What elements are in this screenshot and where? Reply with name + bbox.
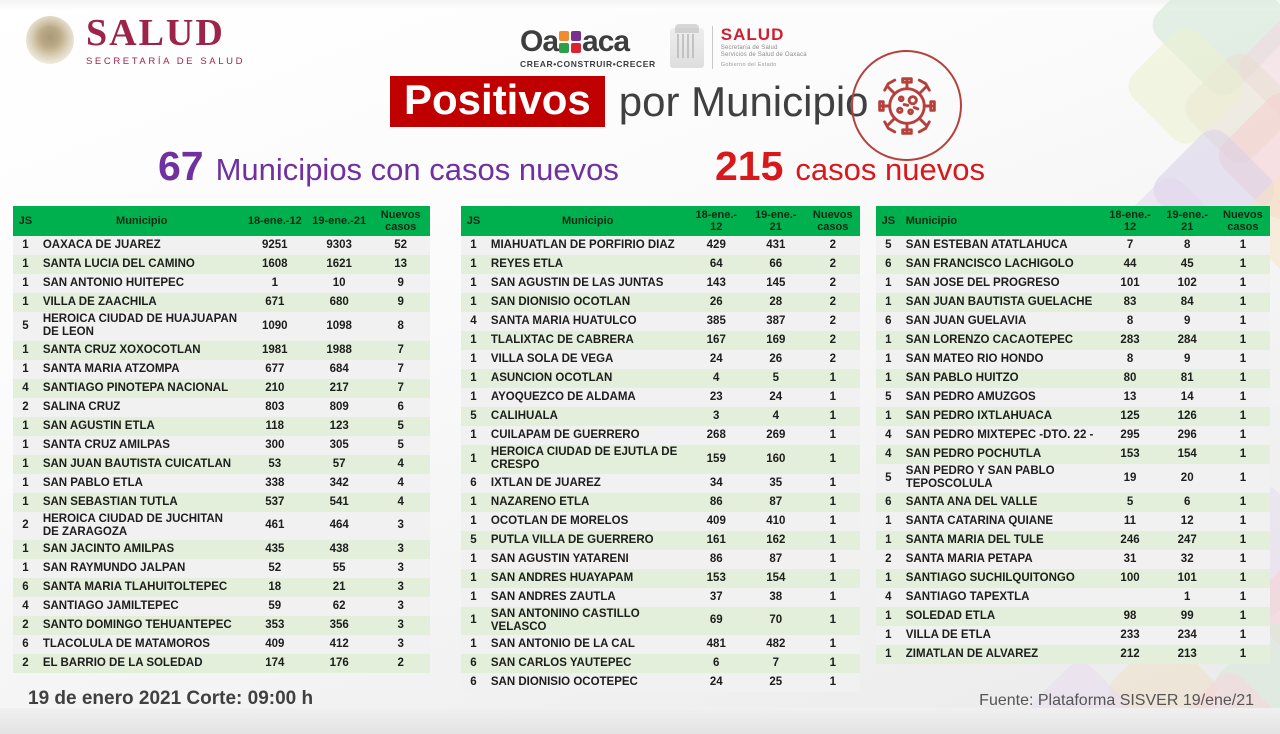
- cell-nuevos-casos: 1: [806, 369, 860, 388]
- cell-nuevos-casos: 1: [806, 512, 860, 531]
- cell-date2-value: 410: [746, 512, 806, 531]
- cell-municipio: TLALIXTAC DE CABRERA: [486, 331, 687, 350]
- table-row: 1SANTA CRUZ AMILPAS3003055: [13, 436, 430, 455]
- table-row: 1SAN PEDRO IXTLAHUACA1251261: [876, 407, 1270, 426]
- cell-date2-value: 66: [746, 255, 806, 274]
- municipios-table-1: JS Municipio 18-ene.-12 19-ene.-21 Nuevo…: [13, 206, 430, 673]
- decor-diamond-0: [1145, 0, 1280, 103]
- cell-js: 1: [13, 436, 38, 455]
- salud-subtitle: SECRETARÍA DE SALUD: [86, 57, 245, 67]
- cell-date2-value: 123: [307, 417, 371, 436]
- cell-nuevos-casos: 3: [371, 540, 430, 559]
- cell-date2-value: 25: [746, 673, 806, 692]
- table-row: 1ZIMATLAN DE ALVAREZ2122131: [876, 645, 1270, 664]
- cell-nuevos-casos: 3: [371, 597, 430, 616]
- cell-date2-value: 217: [307, 379, 371, 398]
- cell-municipio: SAN ESTEBAN ATATLAHUCA: [901, 236, 1102, 255]
- cell-date1-value: 19: [1101, 464, 1158, 492]
- cell-municipio: SANTA MARIA TLAHUITOLTEPEC: [38, 578, 243, 597]
- oaxaca-tagline: CREAR•CONSTRUIR•CRECER: [520, 60, 656, 69]
- cell-date2-value: 10: [307, 274, 371, 293]
- cell-date2-value: 87: [746, 550, 806, 569]
- table-row: 6TLACOLULA DE MATAMOROS4094123: [13, 635, 430, 654]
- table-row: 1SAN JUAN BAUTISTA CUICATLAN53574: [13, 455, 430, 474]
- cell-municipio: SAN ANDRES HUAYAPAM: [486, 569, 687, 588]
- cell-nuevos-casos: 4: [371, 474, 430, 493]
- cell-date1-value: 461: [243, 512, 307, 540]
- cell-js: 4: [876, 445, 901, 464]
- cell-municipio: SANTA LUCIA DEL CAMINO: [38, 255, 243, 274]
- cell-date1-value: 295: [1101, 426, 1158, 445]
- decor-diamond-3: [1121, 21, 1251, 151]
- cell-js: 5: [876, 388, 901, 407]
- table-row: 1SAN AGUSTIN ETLA1181235: [13, 417, 430, 436]
- cell-date1-value: 1608: [243, 255, 307, 274]
- cell-js: 1: [876, 512, 901, 531]
- cell-date2-value: 12: [1159, 512, 1216, 531]
- col-nuevos-casos: Nuevos casos: [371, 206, 430, 236]
- cell-nuevos-casos: 1: [1216, 512, 1270, 531]
- cell-date1-value: 37: [686, 588, 746, 607]
- table-row: 1SAN ANDRES HUAYAPAM1531541: [461, 569, 860, 588]
- table-row: 1SAN PABLO HUITZO80811: [876, 369, 1270, 388]
- cell-municipio: SAN JACINTO AMILPAS: [38, 540, 243, 559]
- cell-date1-value: 26: [686, 293, 746, 312]
- cell-municipio: VILLA SOLA DE VEGA: [486, 350, 687, 369]
- col-date1: 18-ene.- 12: [686, 206, 746, 236]
- table-row: 6SAN DIONISIO OCOTEPEC24251: [461, 673, 860, 692]
- cell-date2-value: 84: [1159, 293, 1216, 312]
- cell-date2-value: 213: [1159, 645, 1216, 664]
- cell-date1-value: 153: [1101, 445, 1158, 464]
- cell-date2-value: 126: [1159, 407, 1216, 426]
- cell-js: 1: [876, 350, 901, 369]
- cell-municipio: SAN AGUSTIN ETLA: [38, 417, 243, 436]
- table-row: 1SAN JUAN BAUTISTA GUELACHE83841: [876, 293, 1270, 312]
- col-js: JS: [876, 206, 901, 236]
- cell-municipio: NAZARENO ETLA: [486, 493, 687, 512]
- cell-nuevos-casos: 13: [371, 255, 430, 274]
- col-nuevos-line1: Nuevos: [373, 209, 428, 221]
- cell-date1-value: 174: [243, 654, 307, 673]
- cell-date1-value: 83: [1101, 293, 1158, 312]
- cell-municipio: SANTA MARIA PETAPA: [901, 550, 1102, 569]
- cell-municipio: SANTIAGO SUCHILQUITONGO: [901, 569, 1102, 588]
- cell-date2-value: 70: [746, 607, 806, 635]
- cell-date1-value: 59: [243, 597, 307, 616]
- col-nuevos-line1: Nuevos: [808, 209, 858, 221]
- gob-salud-line1: Secretaría de Salud: [721, 45, 807, 51]
- cell-js: 1: [876, 607, 901, 626]
- cell-nuevos-casos: 3: [371, 559, 430, 578]
- cell-date2-value: 412: [307, 635, 371, 654]
- cell-js: 1: [876, 569, 901, 588]
- table-row: 1HEROICA CIUDAD DE EJUTLA DE CRESPO15916…: [461, 445, 860, 473]
- col-date2: 19-ene.- 21: [746, 206, 806, 236]
- cell-municipio: SAN RAYMUNDO JALPAN: [38, 559, 243, 578]
- cell-date2-value: 28: [746, 293, 806, 312]
- cell-date2-value: 81: [1159, 369, 1216, 388]
- cell-nuevos-casos: 1: [1216, 274, 1270, 293]
- oaxaca-government-logos: Oa aca CREAR•CONSTRUIR•CRECER SALUD Secr…: [520, 26, 807, 69]
- cell-nuevos-casos: 3: [371, 512, 430, 540]
- cell-date2-value: 305: [307, 436, 371, 455]
- oaxaca-logo: Oa aca CREAR•CONSTRUIR•CRECER: [520, 27, 656, 69]
- cell-js: 1: [461, 588, 486, 607]
- cell-date2-value: 4: [746, 407, 806, 426]
- stat-casos-number: 215: [715, 146, 783, 187]
- col-nuevos-casos: Nuevos casos: [1216, 206, 1270, 236]
- cell-date2-value: 1098: [307, 312, 371, 340]
- table-row: 1SAN ANTONIO DE LA CAL4814821: [461, 635, 860, 654]
- cell-date2-value: 356: [307, 616, 371, 635]
- cell-municipio: SANTIAGO TAPEXTLA: [901, 588, 1102, 607]
- cell-nuevos-casos: 1: [1216, 550, 1270, 569]
- cell-municipio: IXTLAN DE JUAREZ: [486, 474, 687, 493]
- footer-source: Fuente: Plataforma SISVER 19/ene/21: [979, 692, 1254, 710]
- cell-date2-value: 24: [746, 388, 806, 407]
- cell-nuevos-casos: 2: [806, 236, 860, 255]
- cell-date2-value: 269: [746, 426, 806, 445]
- table-row: 1SAN SEBASTIAN TUTLA5375414: [13, 493, 430, 512]
- cell-municipio: SAN PEDRO MIXTEPEC -DTO. 22 -: [901, 426, 1102, 445]
- table-row: 6SANTA ANA DEL VALLE561: [876, 493, 1270, 512]
- cell-date1-value: 677: [243, 360, 307, 379]
- cell-municipio: SAN DIONISIO OCOTEPEC: [486, 673, 687, 692]
- cell-js: 1: [13, 255, 38, 274]
- cell-date1-value: 5: [1101, 493, 1158, 512]
- cell-date1-value: 7: [1101, 236, 1158, 255]
- cell-date2-value: 57: [307, 455, 371, 474]
- cell-date2-value: 62: [307, 597, 371, 616]
- cell-nuevos-casos: 2: [806, 274, 860, 293]
- cell-js: 5: [876, 236, 901, 255]
- cell-municipio: AYOQUEZCO DE ALDAMA: [486, 388, 687, 407]
- cell-date1-value: 52: [243, 559, 307, 578]
- cell-date2-value: 99: [1159, 607, 1216, 626]
- cell-date2-value: 32: [1159, 550, 1216, 569]
- cell-municipio: SAN DIONISIO OCOTLAN: [486, 293, 687, 312]
- cell-municipio: SAN JOSE DEL PROGRESO: [901, 274, 1102, 293]
- cell-nuevos-casos: 1: [1216, 312, 1270, 331]
- cell-date2-value: 21: [307, 578, 371, 597]
- cell-municipio: SANTA MARIA DEL TULE: [901, 531, 1102, 550]
- cell-municipio: SAN PABLO HUITZO: [901, 369, 1102, 388]
- cell-date1-value: 161: [686, 531, 746, 550]
- cell-js: 1: [461, 635, 486, 654]
- cell-date2-value: 541: [307, 493, 371, 512]
- col-date1: 18-ene.- 12: [1101, 206, 1158, 236]
- col-date1: 18-ene.-12: [243, 206, 307, 236]
- cell-municipio: SANTA MARIA HUATULCO: [486, 312, 687, 331]
- cell-municipio: SAN PEDRO AMUZGOS: [901, 388, 1102, 407]
- municipios-table-2: JS Municipio 18-ene.- 12 19-ene.- 21 Nue…: [461, 206, 860, 692]
- cell-js: 2: [876, 550, 901, 569]
- cell-date2-value: 431: [746, 236, 806, 255]
- col-nuevos-casos: Nuevos casos: [806, 206, 860, 236]
- cell-js: 2: [13, 512, 38, 540]
- cell-date1-value: 8: [1101, 350, 1158, 369]
- cell-js: 1: [461, 512, 486, 531]
- table-row: 1NAZARENO ETLA86871: [461, 493, 860, 512]
- table-row: 4SANTIAGO JAMILTEPEC59623: [13, 597, 430, 616]
- cell-js: 5: [461, 531, 486, 550]
- cell-municipio: SAN ANDRES ZAUTLA: [486, 588, 687, 607]
- table-row: 2SANTA MARIA PETAPA31321: [876, 550, 1270, 569]
- cell-js: 2: [13, 616, 38, 635]
- cell-date2-value: 154: [1159, 445, 1216, 464]
- table-row: 1SAN DIONISIO OCOTLAN26282: [461, 293, 860, 312]
- cell-js: 4: [876, 588, 901, 607]
- cell-js: 1: [13, 236, 38, 255]
- cell-date1-value: 803: [243, 398, 307, 417]
- cell-nuevos-casos: 3: [371, 578, 430, 597]
- cell-nuevos-casos: 2: [371, 654, 430, 673]
- cell-nuevos-casos: 7: [371, 379, 430, 398]
- table-row: 1SAN LORENZO CACAOTEPEC2832841: [876, 331, 1270, 350]
- cell-nuevos-casos: 1: [806, 550, 860, 569]
- table-row: 2SALINA CRUZ8038096: [13, 398, 430, 417]
- cell-date2-value: 247: [1159, 531, 1216, 550]
- cell-municipio: OAXACA DE JUAREZ: [38, 236, 243, 255]
- cell-municipio: ASUNCION OCOTLAN: [486, 369, 687, 388]
- cell-js: 1: [13, 274, 38, 293]
- cell-js: 6: [876, 493, 901, 512]
- table-body: 1MIAHUATLAN DE PORFIRIO DIAZ42943121REYE…: [461, 236, 860, 692]
- footer-date: 19 de enero 2021 Corte: 09:00 h: [28, 688, 313, 710]
- cell-date1-value: 167: [686, 331, 746, 350]
- cell-nuevos-casos: 5: [371, 436, 430, 455]
- cell-nuevos-casos: 52: [371, 236, 430, 255]
- cell-date1-value: 24: [686, 350, 746, 369]
- table-row: 1MIAHUATLAN DE PORFIRIO DIAZ4294312: [461, 236, 860, 255]
- cell-nuevos-casos: 1: [1216, 645, 1270, 664]
- table-row: 1SANTA LUCIA DEL CAMINO1608162113: [13, 255, 430, 274]
- cell-js: 6: [461, 474, 486, 493]
- cell-nuevos-casos: 1: [1216, 426, 1270, 445]
- cell-js: 1: [13, 559, 38, 578]
- table-row: 6IXTLAN DE JUAREZ34351: [461, 474, 860, 493]
- coronavirus-icon: [851, 50, 962, 161]
- cell-js: 2: [13, 398, 38, 417]
- cell-js: 1: [461, 493, 486, 512]
- cell-municipio: ZIMATLAN DE ALVAREZ: [901, 645, 1102, 664]
- cell-nuevos-casos: 2: [806, 350, 860, 369]
- cell-date1-value: 9251: [243, 236, 307, 255]
- cell-date2-value: 464: [307, 512, 371, 540]
- cell-date1-value: 3: [686, 407, 746, 426]
- col-municipio: Municipio: [38, 206, 243, 236]
- cell-date2-value: 6: [1159, 493, 1216, 512]
- table-row: 1SAN JACINTO AMILPAS4354383: [13, 540, 430, 559]
- cell-date2-value: 809: [307, 398, 371, 417]
- cell-date2-value: 154: [746, 569, 806, 588]
- table-body: 1OAXACA DE JUAREZ92519303521SANTA LUCIA …: [13, 236, 430, 673]
- cell-date2-value: 9303: [307, 236, 371, 255]
- cell-nuevos-casos: 1: [1216, 293, 1270, 312]
- cell-municipio: SAN SEBASTIAN TUTLA: [38, 493, 243, 512]
- table-row: 1SAN ANTONIO HUITEPEC1109: [13, 274, 430, 293]
- table-row: 6SAN FRANCISCO LACHIGOLO44451: [876, 255, 1270, 274]
- table-row: 1SAN RAYMUNDO JALPAN52553: [13, 559, 430, 578]
- cell-date2-value: 284: [1159, 331, 1216, 350]
- cell-municipio: HEROICA CIUDAD DE JUCHITAN DE ZARAGOZA: [38, 512, 243, 540]
- cell-municipio: SAN JUAN BAUTISTA GUELACHE: [901, 293, 1102, 312]
- table-row: 5HEROICA CIUDAD DE HUAJUAPAN DE LEON1090…: [13, 312, 430, 340]
- cell-date2-value: 45: [1159, 255, 1216, 274]
- cell-municipio: SAN ANTONIO DE LA CAL: [486, 635, 687, 654]
- mexico-eagle-icon: [26, 16, 74, 64]
- cell-municipio: CUILAPAM DE GUERRERO: [486, 426, 687, 445]
- cell-js: 1: [461, 445, 486, 473]
- cell-js: 1: [461, 293, 486, 312]
- table-row: 5PUTLA VILLA DE GUERRERO1611621: [461, 531, 860, 550]
- cell-date1-value: 125: [1101, 407, 1158, 426]
- cell-js: 1: [876, 293, 901, 312]
- oaxaca-x-icon: [559, 31, 581, 53]
- cell-municipio: OCOTLAN DE MORELOS: [486, 512, 687, 531]
- cell-nuevos-casos: 1: [1216, 388, 1270, 407]
- cell-js: 1: [461, 550, 486, 569]
- table-row: 1SAN ANTONINO CASTILLO VELASCO69701: [461, 607, 860, 635]
- gob-salud-wordmark: SALUD: [721, 26, 807, 44]
- cell-date2-value: 101: [1159, 569, 1216, 588]
- cell-date1-value: 101: [1101, 274, 1158, 293]
- col-date1-line1: 18-ene.-: [1103, 209, 1156, 221]
- cell-date1-value: 1090: [243, 312, 307, 340]
- cell-nuevos-casos: 1: [806, 388, 860, 407]
- cell-js: 1: [461, 569, 486, 588]
- cell-nuevos-casos: 1: [806, 531, 860, 550]
- cell-date2-value: 26: [746, 350, 806, 369]
- table-row: 1SAN MATEO RIO HONDO891: [876, 350, 1270, 369]
- slide-canvas: SALUD SECRETARÍA DE SALUD Oa aca CREAR•C…: [0, 0, 1280, 734]
- cell-js: 6: [13, 578, 38, 597]
- cell-nuevos-casos: 8: [371, 312, 430, 340]
- cell-municipio: SAN PEDRO Y SAN PABLO TEPOSCOLULA: [901, 464, 1102, 492]
- cell-nuevos-casos: 2: [806, 293, 860, 312]
- cell-date1-value: 338: [243, 474, 307, 493]
- cell-date2-value: 102: [1159, 274, 1216, 293]
- table-row: 2HEROICA CIUDAD DE JUCHITAN DE ZARAGOZA4…: [13, 512, 430, 540]
- table-row: 6SAN JUAN GUELAVIA891: [876, 312, 1270, 331]
- cell-date1-value: 8: [1101, 312, 1158, 331]
- col-municipio: Municipio: [486, 206, 687, 236]
- cell-date1-value: 53: [243, 455, 307, 474]
- cell-date2-value: 1988: [307, 341, 371, 360]
- gob-salud-line2: Servicios de Salud de Oaxaca: [721, 52, 807, 58]
- cell-date1-value: 481: [686, 635, 746, 654]
- cell-date2-value: 1621: [307, 255, 371, 274]
- cell-nuevos-casos: 1: [1216, 493, 1270, 512]
- table-row: 1VILLA DE ZAACHILA6716809: [13, 293, 430, 312]
- cell-js: 5: [13, 312, 38, 340]
- cell-date1-value: 300: [243, 436, 307, 455]
- cell-municipio: SAN MATEO RIO HONDO: [901, 350, 1102, 369]
- oaxaca-crest-icon: [670, 28, 704, 68]
- cell-date1-value: 233: [1101, 626, 1158, 645]
- cell-municipio: SAN ANTONIO HUITEPEC: [38, 274, 243, 293]
- cell-nuevos-casos: 3: [371, 616, 430, 635]
- cell-date2-value: 20: [1159, 464, 1216, 492]
- cell-municipio: SALINA CRUZ: [38, 398, 243, 417]
- cell-municipio: CALIHUALA: [486, 407, 687, 426]
- cell-date1-value: 98: [1101, 607, 1158, 626]
- cell-date1-value: 537: [243, 493, 307, 512]
- cell-municipio: TLACOLULA DE MATAMOROS: [38, 635, 243, 654]
- cell-date2-value: 87: [746, 493, 806, 512]
- cell-date1-value: 34: [686, 474, 746, 493]
- cell-date1-value: 86: [686, 550, 746, 569]
- stat-municipios: 67 Municipios con casos nuevos: [158, 146, 619, 187]
- decor-diamond-1: [1232, 0, 1280, 136]
- cell-municipio: SANTA CATARINA QUIANE: [901, 512, 1102, 531]
- cell-municipio: MIAHUATLAN DE PORFIRIO DIAZ: [486, 236, 687, 255]
- cell-municipio: SOLEDAD ETLA: [901, 607, 1102, 626]
- cell-nuevos-casos: 1: [806, 635, 860, 654]
- cell-js: 2: [13, 654, 38, 673]
- municipios-table-3: JS Municipio 18-ene.- 12 19-ene.- 21 Nue…: [876, 206, 1270, 664]
- cell-js: 1: [13, 341, 38, 360]
- cell-date1-value: 353: [243, 616, 307, 635]
- cell-nuevos-casos: 1: [1216, 369, 1270, 388]
- cell-date1-value: 69: [686, 607, 746, 635]
- cell-nuevos-casos: 1: [806, 493, 860, 512]
- cell-date1-value: 118: [243, 417, 307, 436]
- cell-nuevos-casos: 1: [1216, 350, 1270, 369]
- cell-date2-value: 7: [746, 654, 806, 673]
- cell-nuevos-casos: 7: [371, 360, 430, 379]
- col-date2: 19-ene.- 21: [1159, 206, 1216, 236]
- cell-municipio: SAN LORENZO CACAOTEPEC: [901, 331, 1102, 350]
- cell-date1-value: 268: [686, 426, 746, 445]
- cell-nuevos-casos: 2: [806, 312, 860, 331]
- col-js: JS: [13, 206, 38, 236]
- cell-municipio: EL BARRIO DE LA SOLEDAD: [38, 654, 243, 673]
- cell-date1-value: 1981: [243, 341, 307, 360]
- cell-nuevos-casos: 1: [1216, 588, 1270, 607]
- cell-date1-value: [1101, 588, 1158, 607]
- stat-municipios-label: Municipios con casos nuevos: [216, 154, 619, 185]
- table-row: 1SAN ANDRES ZAUTLA37381: [461, 588, 860, 607]
- cell-nuevos-casos: 1: [806, 673, 860, 692]
- cell-date1-value: 429: [686, 236, 746, 255]
- col-nuevos-line2: casos: [373, 221, 428, 233]
- cell-js: 6: [876, 255, 901, 274]
- cell-nuevos-casos: 1: [806, 654, 860, 673]
- cell-municipio: HEROICA CIUDAD DE EJUTLA DE CRESPO: [486, 445, 687, 473]
- cell-date1-value: 86: [686, 493, 746, 512]
- cell-js: 1: [461, 350, 486, 369]
- cell-nuevos-casos: 1: [1216, 531, 1270, 550]
- cell-js: 1: [876, 531, 901, 550]
- table-row: 1TLALIXTAC DE CABRERA1671692: [461, 331, 860, 350]
- cell-date2-value: 55: [307, 559, 371, 578]
- table-body: 5SAN ESTEBAN ATATLAHUCA7816SAN FRANCISCO…: [876, 236, 1270, 663]
- cell-nuevos-casos: 1: [1216, 607, 1270, 626]
- cell-date1-value: 246: [1101, 531, 1158, 550]
- cell-date1-value: 18: [243, 578, 307, 597]
- cell-nuevos-casos: 4: [371, 455, 430, 474]
- cell-date2-value: 234: [1159, 626, 1216, 645]
- cell-date2-value: 680: [307, 293, 371, 312]
- cell-date2-value: 162: [746, 531, 806, 550]
- cell-date2-value: 387: [746, 312, 806, 331]
- stat-municipios-number: 67: [158, 146, 204, 187]
- cell-nuevos-casos: 4: [371, 493, 430, 512]
- col-municipio: Municipio: [901, 206, 1102, 236]
- cell-municipio: SAN AGUSTIN YATARENI: [486, 550, 687, 569]
